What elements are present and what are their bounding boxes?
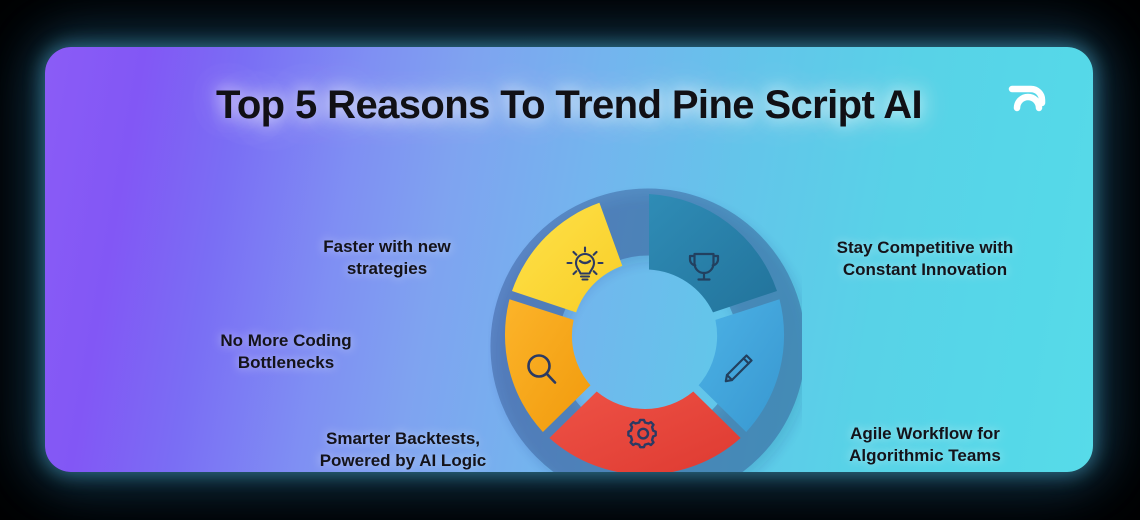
infographic-root: Top 5 Reasons To Trend Pine Script AI [0,0,1140,520]
donut-chart [488,180,802,472]
reason-label-line2: Constant Innovation [843,260,1007,279]
reason-label-line1: Stay Competitive with [837,238,1014,257]
reason-label-agile-workflow[interactable]: Agile Workflow for Algorithmic Teams [820,412,1030,472]
reason-label-line1: Agile Workflow for [850,424,1000,443]
reason-label-line2: Powered by AI Logic [320,451,487,470]
reason-label-faster-strategies[interactable]: Faster with new strategies [288,225,486,292]
reason-label-stay-competitive[interactable]: Stay Competitive with Constant Innovatio… [800,226,1050,293]
reason-label-line2: Algorithmic Teams [849,446,1001,465]
reason-label-line1: No More Coding [220,331,351,350]
reason-label-line2: strategies [347,259,427,278]
brand-logo-icon [1005,75,1049,119]
reason-label-line1: Smarter Backtests, [326,429,480,448]
reason-label-line2: Bottlenecks [238,353,334,372]
page-title: Top 5 Reasons To Trend Pine Script AI [45,83,1093,128]
infographic-card: Top 5 Reasons To Trend Pine Script AI [45,47,1093,472]
reason-label-line1: Faster with new [323,237,451,256]
reason-label-no-coding-bottlenecks[interactable]: No More Coding Bottlenecks [191,319,381,386]
reason-label-smarter-backtests[interactable]: Smarter Backtests, Powered by AI Logic [290,417,516,472]
